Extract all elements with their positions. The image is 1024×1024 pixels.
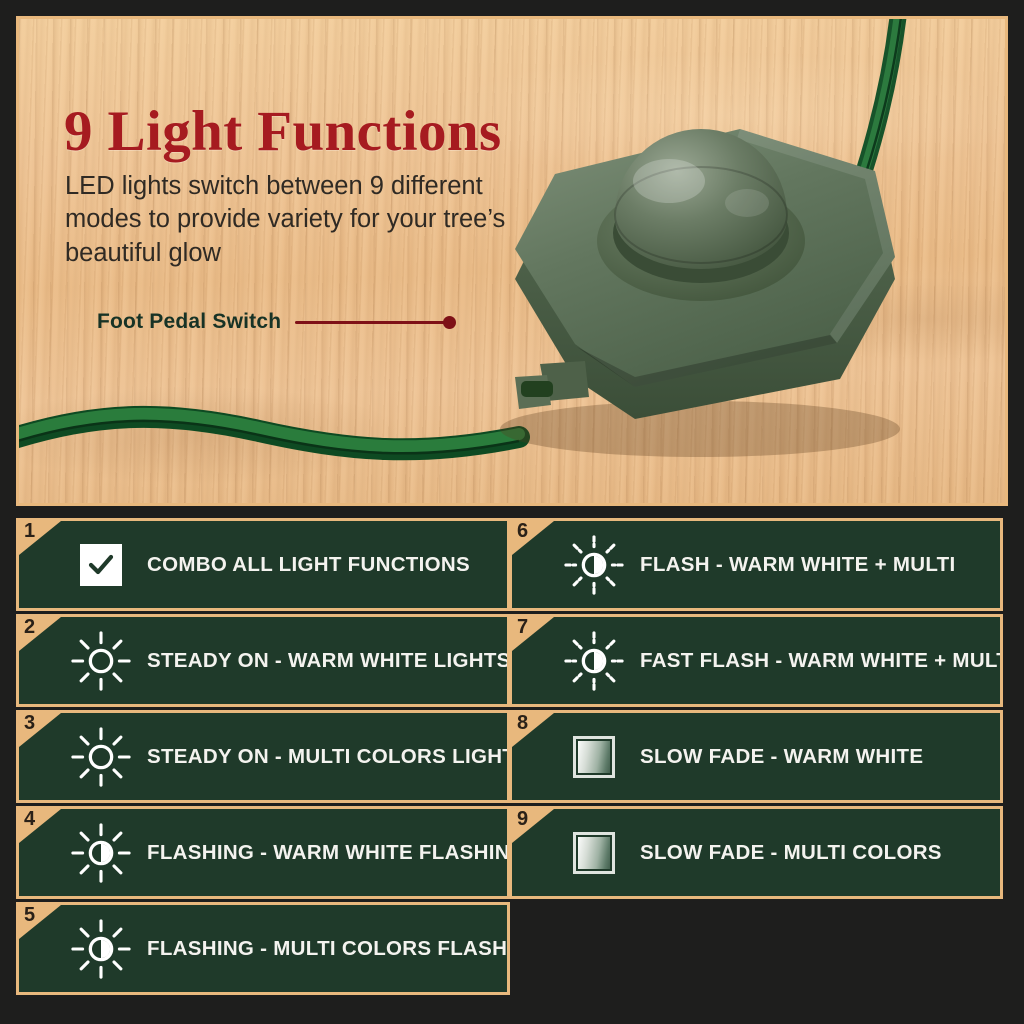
function-row[interactable]: SLOW FADE - MULTI COLORS9 <box>509 806 1003 899</box>
sun-flashing-icon <box>70 918 132 980</box>
function-number: 5 <box>24 905 35 925</box>
function-row[interactable]: FLASHING - MULTI COLORS FLASHING5 <box>16 902 510 995</box>
function-row[interactable]: FAST FLASH - WARM WHITE + MULTI7 <box>509 614 1003 707</box>
function-number: 9 <box>517 809 528 829</box>
fade-gradient-swatch <box>578 741 610 773</box>
function-icon-slot <box>69 629 133 693</box>
sun-flashing-icon <box>70 822 132 884</box>
fade-gradient-swatch <box>578 837 610 869</box>
function-number: 4 <box>24 809 35 829</box>
function-label: STEADY ON - MULTI COLORS LIGHTS <box>147 745 529 769</box>
sun-steady-icon <box>70 630 132 692</box>
function-label: FLASH - WARM WHITE + MULTI <box>640 553 955 577</box>
function-row[interactable]: STEADY ON - WARM WHITE LIGHTS2 <box>16 614 510 707</box>
function-row-card: STEADY ON - MULTI COLORS LIGHTS <box>19 713 507 800</box>
function-number: 8 <box>517 713 528 733</box>
function-number: 3 <box>24 713 35 733</box>
function-row[interactable]: FLASH - WARM WHITE + MULTI6 <box>509 518 1003 611</box>
callout-endpoint-dot <box>443 316 456 329</box>
function-row-card: FLASHING - WARM WHITE FLASHING <box>19 809 507 896</box>
function-label: STEADY ON - WARM WHITE LIGHTS <box>147 649 511 673</box>
checkbox-check-icon <box>80 544 122 586</box>
hero-photo-panel: 9 Light Functions LED lights switch betw… <box>16 16 1008 506</box>
function-list-left-column: COMBO ALL LIGHT FUNCTIONS1STEADY ON - WA… <box>16 518 510 998</box>
function-label: SLOW FADE - MULTI COLORS <box>640 841 942 865</box>
sun-flash-dashed-icon <box>563 630 625 692</box>
function-icon-slot <box>69 533 133 597</box>
fade-gradient-icon <box>573 736 615 778</box>
function-label: FLASHING - WARM WHITE FLASHING <box>147 841 526 865</box>
fade-gradient-icon <box>573 832 615 874</box>
function-label: FAST FLASH - WARM WHITE + MULTI <box>640 649 1015 673</box>
function-label: COMBO ALL LIGHT FUNCTIONS <box>147 553 470 577</box>
page-title: 9 Light Functions <box>64 99 502 164</box>
function-icon-slot <box>562 821 626 885</box>
callout-label: Foot Pedal Switch <box>97 310 281 334</box>
function-number: 1 <box>24 521 35 541</box>
hero-subtitle: LED lights switch between 9 different mo… <box>65 170 565 272</box>
function-number: 6 <box>517 521 528 541</box>
function-label: FLASHING - MULTI COLORS FLASHING <box>147 937 545 961</box>
sun-flash-dashed-icon <box>563 534 625 596</box>
sun-steady-icon <box>70 726 132 788</box>
function-icon-slot <box>562 629 626 693</box>
function-row-card: COMBO ALL LIGHT FUNCTIONS <box>19 521 507 608</box>
infographic-canvas: 9 Light Functions LED lights switch betw… <box>0 0 1024 1024</box>
function-number: 7 <box>517 617 528 637</box>
function-row-card: STEADY ON - WARM WHITE LIGHTS <box>19 617 507 704</box>
function-list-right-column: FLASH - WARM WHITE + MULTI6FAST FLASH - … <box>509 518 1003 902</box>
function-row[interactable]: SLOW FADE - WARM WHITE8 <box>509 710 1003 803</box>
function-row-card: SLOW FADE - MULTI COLORS <box>512 809 1000 896</box>
function-icon-slot <box>69 917 133 981</box>
function-row-card: SLOW FADE - WARM WHITE <box>512 713 1000 800</box>
function-label: SLOW FADE - WARM WHITE <box>640 745 923 769</box>
function-row[interactable]: COMBO ALL LIGHT FUNCTIONS1 <box>16 518 510 611</box>
function-icon-slot <box>562 725 626 789</box>
callout-leader-line <box>295 321 445 324</box>
function-icon-slot <box>69 821 133 885</box>
function-row-card: FLASH - WARM WHITE + MULTI <box>512 521 1000 608</box>
foot-pedal-switch-callout: Foot Pedal Switch <box>97 307 456 337</box>
function-number: 2 <box>24 617 35 637</box>
function-icon-slot <box>69 725 133 789</box>
function-row[interactable]: FLASHING - WARM WHITE FLASHING4 <box>16 806 510 899</box>
function-icon-slot <box>562 533 626 597</box>
function-row-card: FLASHING - MULTI COLORS FLASHING <box>19 905 507 992</box>
function-row[interactable]: STEADY ON - MULTI COLORS LIGHTS3 <box>16 710 510 803</box>
function-row-card: FAST FLASH - WARM WHITE + MULTI <box>512 617 1000 704</box>
